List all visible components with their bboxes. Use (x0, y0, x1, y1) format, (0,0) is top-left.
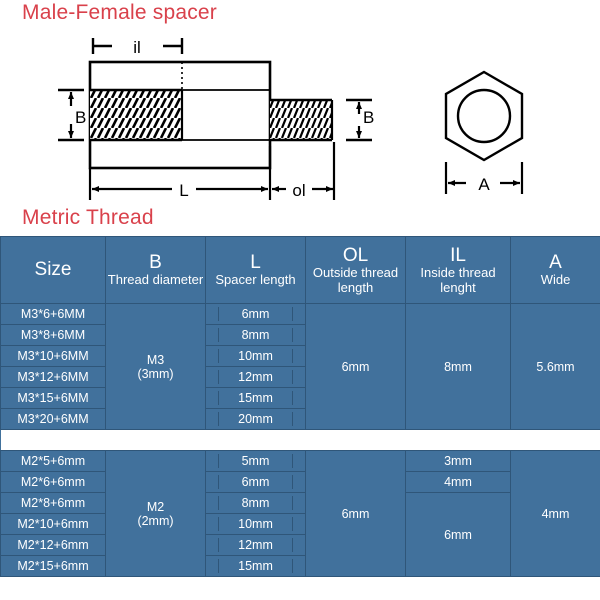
cell-outside-thread-length: 6mm (306, 451, 406, 577)
label-l: L (179, 181, 188, 200)
cell-size: M2*12+6mm (1, 535, 106, 556)
cell-length: 12mm (206, 367, 306, 388)
cell-wide: 5.6mm (511, 304, 600, 430)
cell-size: M3*12+6MM (1, 367, 106, 388)
col-header-il: IL Inside thread lenght (406, 237, 511, 304)
metric-thread-table: Size B Thread diameter L Spacer length O… (0, 236, 600, 577)
col-header-b: B Thread diameter (106, 237, 206, 304)
table-body: M3*6+6MM M3 (3mm) 6mm 6mm 8mm 5.6mm M3*8… (1, 304, 600, 577)
label-b-right: B (363, 108, 374, 127)
thread-code: M2 (106, 500, 205, 514)
table-row: M2*5+6mm M2 (2mm) 5mm 6mm 3mm 4mm (1, 451, 600, 472)
cell-length: 15mm (206, 556, 306, 577)
cell-size: M2*5+6mm (1, 451, 106, 472)
col-header-l: L Spacer length (206, 237, 306, 304)
cell-length: 8mm (206, 325, 306, 346)
section-title-metric-thread: Metric Thread (22, 206, 154, 230)
cell-size: M2*15+6mm (1, 556, 106, 577)
cell-length: 5mm (206, 451, 306, 472)
cell-length: 15mm (206, 388, 306, 409)
col-header-size: Size (1, 237, 106, 304)
cell-size: M3*6+6MM (1, 304, 106, 325)
cell-length: 10mm (206, 514, 306, 535)
thread-diameter-value: (3mm) (106, 367, 205, 381)
cell-length: 20mm (206, 409, 306, 430)
cell-size: M2*8+6mm (1, 493, 106, 514)
cell-wide: 4mm (511, 451, 600, 577)
label-a: A (478, 175, 490, 194)
label-ol: ol (292, 181, 305, 200)
section-separator (1, 430, 600, 451)
col-header-ol: OL Outside thread length (306, 237, 406, 304)
label-il: il (133, 38, 141, 57)
table-header-row: Size B Thread diameter L Spacer length O… (1, 237, 600, 304)
table-row: M3*6+6MM M3 (3mm) 6mm 6mm 8mm 5.6mm (1, 304, 600, 325)
cell-inside-thread-length: 4mm (406, 472, 511, 493)
table-row: M2*6+6mm 6mm 4mm (1, 472, 600, 493)
label-b-left: B (75, 108, 86, 127)
thread-diameter-value: (2mm) (106, 514, 205, 528)
cell-size: M3*20+6MM (1, 409, 106, 430)
table-row: M2*8+6mm 8mm 6mm (1, 493, 600, 514)
cell-thread-diameter: M2 (2mm) (106, 451, 206, 577)
page-title-spacer: Male-Female spacer (22, 1, 217, 25)
cell-inside-thread-length: 6mm (406, 493, 511, 577)
cell-inside-thread-length: 3mm (406, 451, 511, 472)
cell-thread-diameter: M3 (3mm) (106, 304, 206, 430)
cell-length: 8mm (206, 493, 306, 514)
cell-length: 6mm (206, 472, 306, 493)
cell-size: M2*10+6mm (1, 514, 106, 535)
spacer-technical-drawing: il B B L ol A (0, 28, 600, 203)
cell-size: M3*15+6MM (1, 388, 106, 409)
cell-inside-thread-length: 8mm (406, 304, 511, 430)
col-header-a: A Wide (511, 237, 600, 304)
cell-size: M3*8+6MM (1, 325, 106, 346)
hex-nut-end-view (446, 72, 522, 160)
cell-length: 10mm (206, 346, 306, 367)
cell-size: M3*10+6MM (1, 346, 106, 367)
cell-size: M2*6+6mm (1, 472, 106, 493)
cell-length: 12mm (206, 535, 306, 556)
thread-code: M3 (106, 353, 205, 367)
cell-length: 6mm (206, 304, 306, 325)
cell-outside-thread-length: 6mm (306, 304, 406, 430)
